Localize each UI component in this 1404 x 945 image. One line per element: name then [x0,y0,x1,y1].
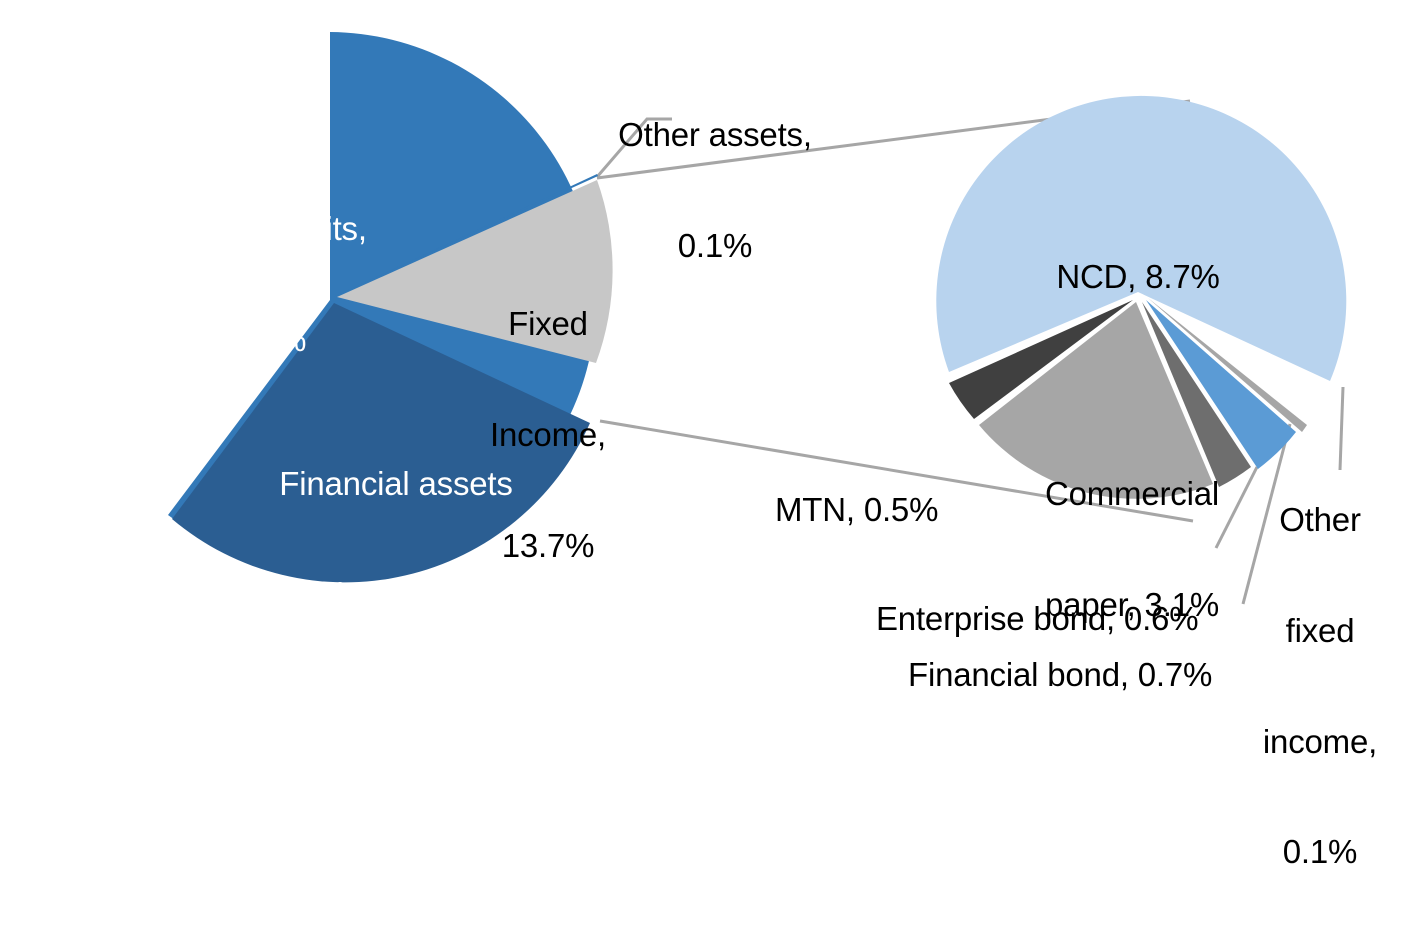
label-other-assets: Other assets, 0.1% [596,43,834,339]
label-bank-deposits: Bank deposits, 60.3% [130,137,390,433]
label-bank-deposits-line2: 60.3% [130,322,390,359]
label-other-assets-line1: Other assets, [596,117,834,154]
label-ncd: NCD, 8.7% [1008,185,1268,370]
label-fixed-income-line2: Income, [468,417,628,454]
label-fixed-income-line3: 13.7% [468,528,628,565]
label-other-fixed-line3: income, [1255,724,1385,761]
label-other-assets-line2: 0.1% [596,228,834,265]
label-other-fixed-line4: 0.1% [1255,834,1385,871]
label-financial-bond: Financial bond, 0.7% [908,583,1248,768]
label-bank-deposits-line1: Bank deposits, [130,211,390,248]
label-ncd-text: NCD, 8.7% [1008,259,1268,296]
label-repo-line3: agreements, [258,688,534,725]
label-financial-bond-text: Financial bond, 0.7% [908,657,1248,694]
label-mtn-text: MTN, 0.5% [775,492,975,529]
label-commercial-paper-line1: Commercial [1022,476,1242,513]
label-other-fixed-line2: fixed [1255,613,1385,650]
label-other-fixed-line1: Other [1255,502,1385,539]
chart-canvas: Bank deposits, 60.3% Financial assets he… [0,0,1404,644]
label-other-fixed-income: Other fixed income, 0.1% [1255,428,1385,945]
label-repo-line4: 25.9% [258,798,534,835]
